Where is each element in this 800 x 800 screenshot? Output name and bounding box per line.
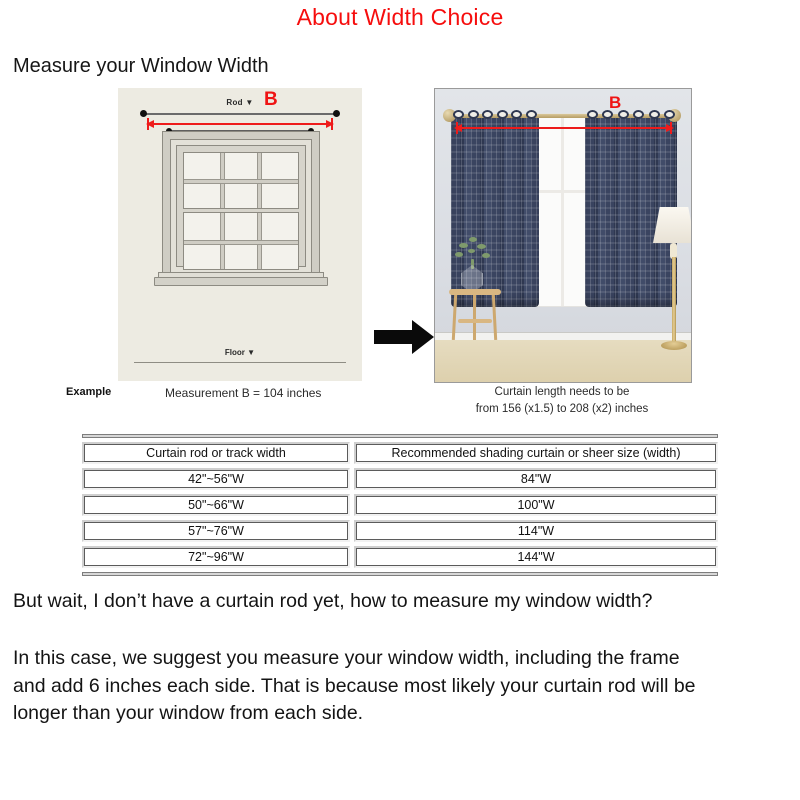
cell-recommended-size: 84"W xyxy=(354,468,718,490)
window-sash-lower xyxy=(183,212,299,270)
cell-rod-width: 72"~96"W xyxy=(82,546,350,568)
rod-end-dot-left xyxy=(140,110,147,117)
paragraph-question: But wait, I don’t have a curtain rod yet… xyxy=(13,588,793,616)
grommet-icon xyxy=(468,110,479,119)
cell-rod-width: 50"~66"W xyxy=(82,494,350,516)
photo-floor-lamp xyxy=(651,207,692,357)
cell-recommended-size: 100"W xyxy=(354,494,718,516)
grommet-icon xyxy=(664,110,675,119)
arrow-head-right-icon xyxy=(326,120,334,128)
curtain-length-line-1: Curtain length needs to be xyxy=(434,384,690,401)
table-leg xyxy=(492,294,497,340)
table-top-rule xyxy=(82,434,718,438)
section-subheading: Measure your Window Width xyxy=(13,55,269,78)
table-top xyxy=(449,289,501,295)
curtain-length-caption: Curtain length needs to be from 156 (x1.… xyxy=(434,384,690,417)
leaf-icon xyxy=(455,252,463,257)
arrow-head-left-icon xyxy=(454,124,462,132)
table-bottom-rule xyxy=(82,572,718,576)
size-recommendation-table: Curtain rod or track width Recommended s… xyxy=(82,434,718,576)
page-title: About Width Choice xyxy=(0,4,800,31)
mullion-horizontal xyxy=(184,240,298,245)
example-label: Example xyxy=(66,386,111,398)
photo-window-mullion-v xyxy=(561,114,564,306)
table-header-rod-width: Curtain rod or track width xyxy=(82,442,350,464)
curtain-room-photo: B xyxy=(434,88,692,383)
grommet-icon xyxy=(482,110,493,119)
b-marker-left: B xyxy=(264,90,278,109)
grommet-icon xyxy=(649,110,660,119)
table-header-row: Curtain rod or track width Recommended s… xyxy=(82,442,718,464)
arrow-shaft xyxy=(374,330,414,344)
photo-plant xyxy=(453,235,493,269)
window-sill xyxy=(154,277,328,286)
arrow-head-left-icon xyxy=(146,120,154,128)
arrow-head xyxy=(412,320,434,354)
lamp-pole xyxy=(672,257,676,345)
window-inner-frame xyxy=(176,145,306,267)
photo-grommets-left xyxy=(453,110,537,120)
rod-label: Rod ▼ xyxy=(118,98,362,107)
window-outer-frame xyxy=(162,131,320,281)
grommet-icon xyxy=(453,110,464,119)
leaf-icon xyxy=(477,244,486,249)
table-row: 50"~66"W 100"W xyxy=(82,494,718,516)
leaf-icon xyxy=(482,253,490,258)
lamp-base xyxy=(661,341,687,350)
cell-rod-width: 57"~76"W xyxy=(82,520,350,542)
grommet-icon xyxy=(526,110,537,119)
window-middle-frame xyxy=(170,139,312,273)
table-shelf xyxy=(458,319,492,323)
cell-rod-width: 42"~56"W xyxy=(82,468,350,490)
photo-side-table xyxy=(449,289,501,341)
window-measurement-diagram: Rod ▼ B xyxy=(118,88,362,381)
curtain-length-line-2: from 156 (x1.5) to 208 (x2) inches xyxy=(434,401,690,418)
diagram-row: Rod ▼ B xyxy=(0,88,800,388)
mullion-horizontal xyxy=(184,179,298,184)
b-marker-right: B xyxy=(609,94,621,111)
lamp-shade xyxy=(653,207,692,243)
measure-bar xyxy=(148,123,332,125)
photo-grommets-right xyxy=(587,110,675,120)
leaf-icon xyxy=(459,243,468,248)
measurement-caption: Measurement B = 104 inches xyxy=(165,386,321,400)
table-header-recommended-size: Recommended shading curtain or sheer siz… xyxy=(354,442,718,464)
leaf-icon xyxy=(469,237,477,242)
grommet-icon xyxy=(633,110,644,119)
rod-end-dot-right xyxy=(333,110,340,117)
measure-bar xyxy=(457,127,671,129)
cell-recommended-size: 114"W xyxy=(354,520,718,542)
table-row: 57"~76"W 114"W xyxy=(82,520,718,542)
grommet-icon xyxy=(587,110,598,119)
arrow-head-right-icon xyxy=(666,124,674,132)
floor-line xyxy=(134,362,346,363)
photo-measurement-arrow-b xyxy=(451,122,677,134)
paragraph-advice: In this case, we suggest you measure you… xyxy=(13,645,713,728)
table-leg xyxy=(473,294,476,340)
table-row: 42"~56"W 84"W xyxy=(82,468,718,490)
floor-label: Floor ▼ xyxy=(118,348,362,357)
grommet-icon xyxy=(497,110,508,119)
flow-arrow-right-icon xyxy=(374,320,434,354)
table-row: 72"~96"W 144"W xyxy=(82,546,718,568)
curtain-rod-line xyxy=(144,113,336,115)
window-sash-upper xyxy=(183,152,299,209)
grommet-icon xyxy=(511,110,522,119)
table-leg xyxy=(452,294,457,340)
leaf-icon xyxy=(468,249,475,253)
cell-recommended-size: 144"W xyxy=(354,546,718,568)
